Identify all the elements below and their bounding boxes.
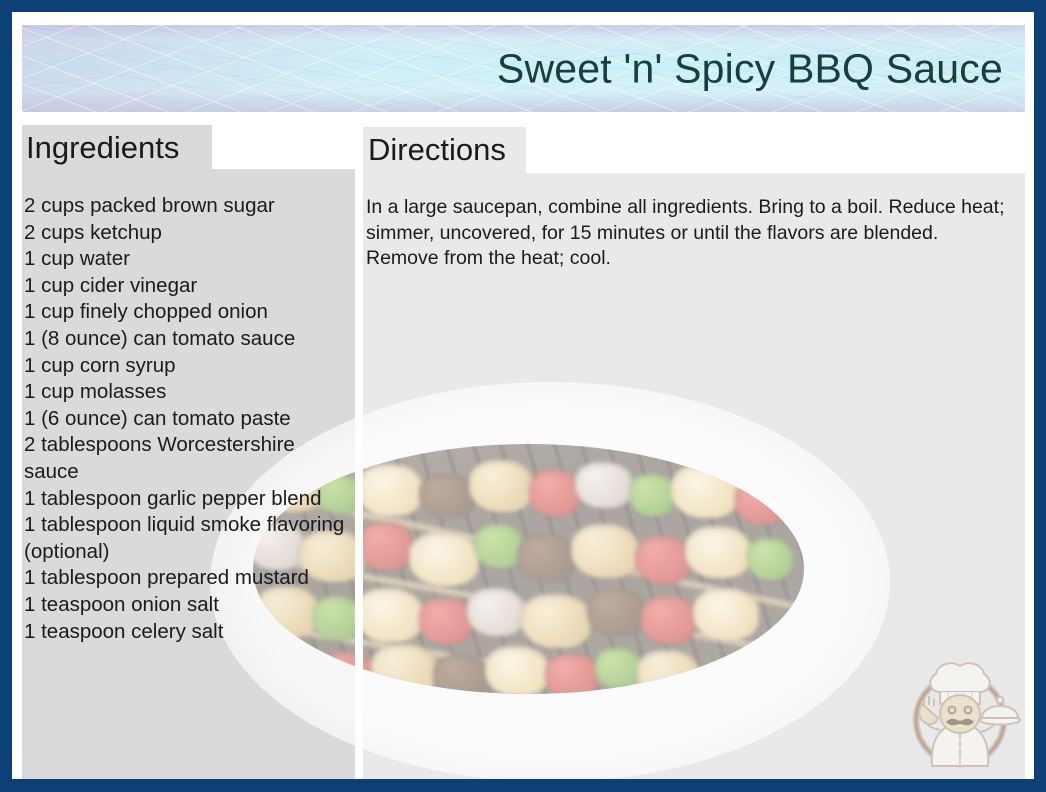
header-banner: Sweet 'n' Spicy BBQ Sauce — [22, 25, 1025, 112]
list-item: 1 cup molasses — [24, 379, 349, 406]
list-item: 1 teaspoon celery salt — [24, 619, 349, 646]
directions-paragraph: In a large saucepan, combine all ingredi… — [366, 195, 1016, 272]
list-item: 1 teaspoon onion salt — [24, 592, 349, 619]
frame-border-bottom — [0, 779, 1046, 792]
chef-icon — [896, 648, 1024, 776]
page-title: Sweet 'n' Spicy BBQ Sauce — [497, 46, 1003, 91]
list-item: 1 cup corn syrup — [24, 353, 349, 380]
ingredients-heading: Ingredients — [26, 130, 179, 166]
list-item: 1 cup cider vinegar — [24, 273, 349, 300]
frame-border-right — [1034, 0, 1046, 792]
list-item: 1 (6 ounce) can tomato paste — [24, 406, 349, 433]
list-item: 1 cup finely chopped onion — [24, 299, 349, 326]
frame-border-top — [0, 0, 1046, 12]
list-item: 1 tablespoon liquid smoke flavoring (opt… — [24, 512, 349, 565]
list-item: 1 (8 ounce) can tomato sauce — [24, 326, 349, 353]
list-item: 1 cup water — [24, 246, 349, 273]
frame-border-left — [0, 0, 12, 792]
directions-body: In a large saucepan, combine all ingredi… — [366, 195, 1016, 272]
list-item: 2 cups packed brown sugar — [24, 193, 349, 220]
chef-logo — [896, 648, 1024, 776]
list-item: 2 tablespoons Worcestershire sauce — [24, 432, 349, 485]
panel-gutter — [355, 169, 363, 780]
list-item: 2 cups ketchup — [24, 220, 349, 247]
directions-heading: Directions — [368, 132, 506, 168]
recipe-slide: Sweet 'n' Spicy BBQ Sauce Ingredients Di… — [0, 0, 1046, 792]
list-item: 1 tablespoon garlic pepper blend — [24, 486, 349, 513]
ingredients-list: 2 cups packed brown sugar 2 cups ketchup… — [24, 193, 349, 645]
list-item: 1 tablespoon prepared mustard — [24, 565, 349, 592]
